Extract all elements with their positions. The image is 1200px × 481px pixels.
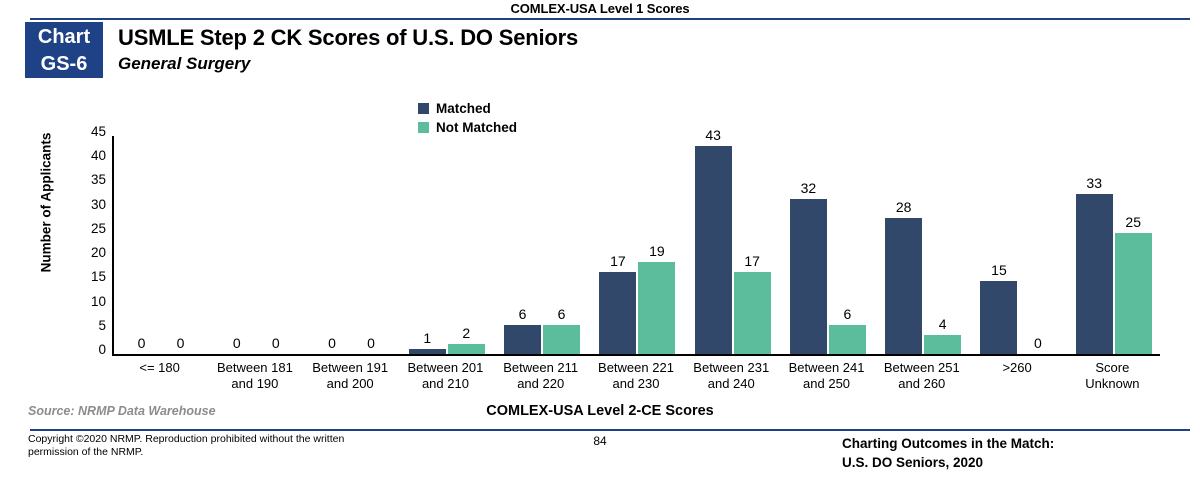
bar-value-label: 1 — [409, 331, 446, 346]
bar-matched[interactable] — [885, 218, 922, 354]
x-axis-category-label-line: and 230 — [588, 376, 683, 392]
x-axis-category-label-line: and 200 — [303, 376, 398, 392]
bar-value-label: 0 — [353, 336, 390, 351]
bar-value-label: 17 — [599, 254, 636, 269]
bar-not-matched[interactable] — [543, 325, 580, 354]
bar-value-label: 43 — [695, 128, 732, 143]
bar-value-label: 0 — [314, 336, 351, 351]
bar-value-label: 32 — [790, 181, 827, 196]
bar-value-label: 19 — [638, 244, 675, 259]
y-axis-tick-label: 10 — [62, 295, 106, 308]
bar-matched[interactable] — [980, 281, 1017, 354]
x-axis-category-label-line: and 220 — [493, 376, 588, 392]
x-axis-category-label-line: Between 181 — [207, 360, 302, 376]
bar-matched[interactable] — [1076, 194, 1113, 354]
x-axis-category-label-line: Between 201 — [398, 360, 493, 376]
x-axis-category-label: Between 251and 260 — [874, 360, 969, 392]
bar-value-label: 17 — [734, 254, 771, 269]
y-axis-tick-labels: 051015202530354045 — [62, 131, 106, 355]
x-axis-category-label: Between 241and 250 — [779, 360, 874, 392]
x-axis-category-label-line: <= 180 — [112, 360, 207, 376]
x-axis-category-labels: <= 180Between 181and 190Between 191and 2… — [112, 360, 1160, 400]
bar-value-label: 6 — [829, 307, 866, 322]
bar-group: 150 — [969, 136, 1064, 354]
bar-value-label: 0 — [123, 336, 160, 351]
y-axis-tick-label: 25 — [62, 222, 106, 235]
x-axis-category-label-line: Between 231 — [684, 360, 779, 376]
y-axis-tick-label: 40 — [62, 149, 106, 162]
bar-not-matched[interactable] — [734, 272, 771, 354]
x-axis-category-label: Between 231and 240 — [684, 360, 779, 392]
y-axis-tick-label: 5 — [62, 319, 106, 332]
bar-value-label: 0 — [257, 336, 294, 351]
x-axis-category-label-line: Between 241 — [779, 360, 874, 376]
x-axis-line — [112, 354, 1160, 356]
bar-not-matched[interactable] — [924, 335, 961, 354]
bar-value-label: 0 — [162, 336, 199, 351]
bar-value-label: 4 — [924, 317, 961, 332]
x-axis-category-label-line: and 190 — [207, 376, 302, 392]
x-axis-category-label-line: and 210 — [398, 376, 493, 392]
x-axis-category-label-line: Between 191 — [303, 360, 398, 376]
bar-matched[interactable] — [599, 272, 636, 354]
bar-value-label: 15 — [980, 263, 1017, 278]
bar-value-label: 6 — [543, 307, 580, 322]
y-axis-title: Number of Applicants — [39, 113, 54, 293]
bar-group: 00 — [207, 136, 302, 354]
x-axis-category-label-line: Between 251 — [874, 360, 969, 376]
bar-group: 284 — [874, 136, 969, 354]
bar-not-matched[interactable] — [638, 262, 675, 354]
bar-value-label: 6 — [504, 307, 541, 322]
bar-value-label: 28 — [885, 200, 922, 215]
footer-publication-line-1: Charting Outcomes in the Match: — [842, 434, 1172, 453]
bar-group: 66 — [493, 136, 588, 354]
bar-matched[interactable] — [504, 325, 541, 354]
x-axis-category-label-line: >260 — [969, 360, 1064, 376]
bar-group: 4317 — [684, 136, 779, 354]
x-axis-category-label-line: and 240 — [684, 376, 779, 392]
x-axis-category-label-line: and 260 — [874, 376, 969, 392]
bar-value-label: 0 — [218, 336, 255, 351]
x-axis-category-label-line: Between 211 — [493, 360, 588, 376]
x-axis-category-label-line: Unknown — [1065, 376, 1160, 392]
footer-publication-title: Charting Outcomes in the Match: U.S. DO … — [842, 434, 1172, 472]
x-axis-category-label-line: Between 221 — [588, 360, 683, 376]
y-axis-tick-label: 20 — [62, 246, 106, 259]
footer-publication-line-2: U.S. DO Seniors, 2020 — [842, 453, 1172, 472]
bar-not-matched[interactable] — [448, 344, 485, 354]
x-axis-category-label: <= 180 — [112, 360, 207, 376]
bar-group: 12 — [398, 136, 493, 354]
footer-divider-rule — [30, 429, 1190, 431]
bar-matched[interactable] — [790, 199, 827, 354]
x-axis-category-label-line: and 250 — [779, 376, 874, 392]
x-axis-category-label: >260 — [969, 360, 1064, 376]
bar-matched[interactable] — [695, 146, 732, 354]
y-axis-tick-label: 15 — [62, 270, 106, 283]
bar-group: 326 — [779, 136, 874, 354]
bar-group: 00 — [303, 136, 398, 354]
bars-container: 0000001266171943173262841503325 — [112, 136, 1160, 354]
y-axis-tick-label: 45 — [62, 125, 106, 138]
x-axis-category-label: ScoreUnknown — [1065, 360, 1160, 392]
x-axis-category-label: Between 181and 190 — [207, 360, 302, 392]
y-axis-tick-label: 35 — [62, 173, 106, 186]
bar-value-label: 2 — [448, 326, 485, 341]
bar-not-matched[interactable] — [829, 325, 866, 354]
bar-group: 3325 — [1065, 136, 1160, 354]
bar-value-label: 25 — [1115, 215, 1152, 230]
bar-value-label: 33 — [1076, 176, 1113, 191]
bar-group: 1719 — [588, 136, 683, 354]
bar-group: 00 — [112, 136, 207, 354]
x-axis-category-label: Between 191and 200 — [303, 360, 398, 392]
y-axis-tick-label: 0 — [62, 343, 106, 356]
x-axis-category-label: Between 221and 230 — [588, 360, 683, 392]
x-axis-category-label-line: Score — [1065, 360, 1160, 376]
bar-value-label: 0 — [1019, 336, 1056, 351]
bar-matched[interactable] — [409, 349, 446, 354]
bar-not-matched[interactable] — [1115, 233, 1152, 354]
x-axis-category-label: Between 211and 220 — [493, 360, 588, 392]
source-note: Source: NRMP Data Warehouse — [28, 404, 216, 418]
x-axis-category-label: Between 201and 210 — [398, 360, 493, 392]
y-axis-tick-label: 30 — [62, 198, 106, 211]
